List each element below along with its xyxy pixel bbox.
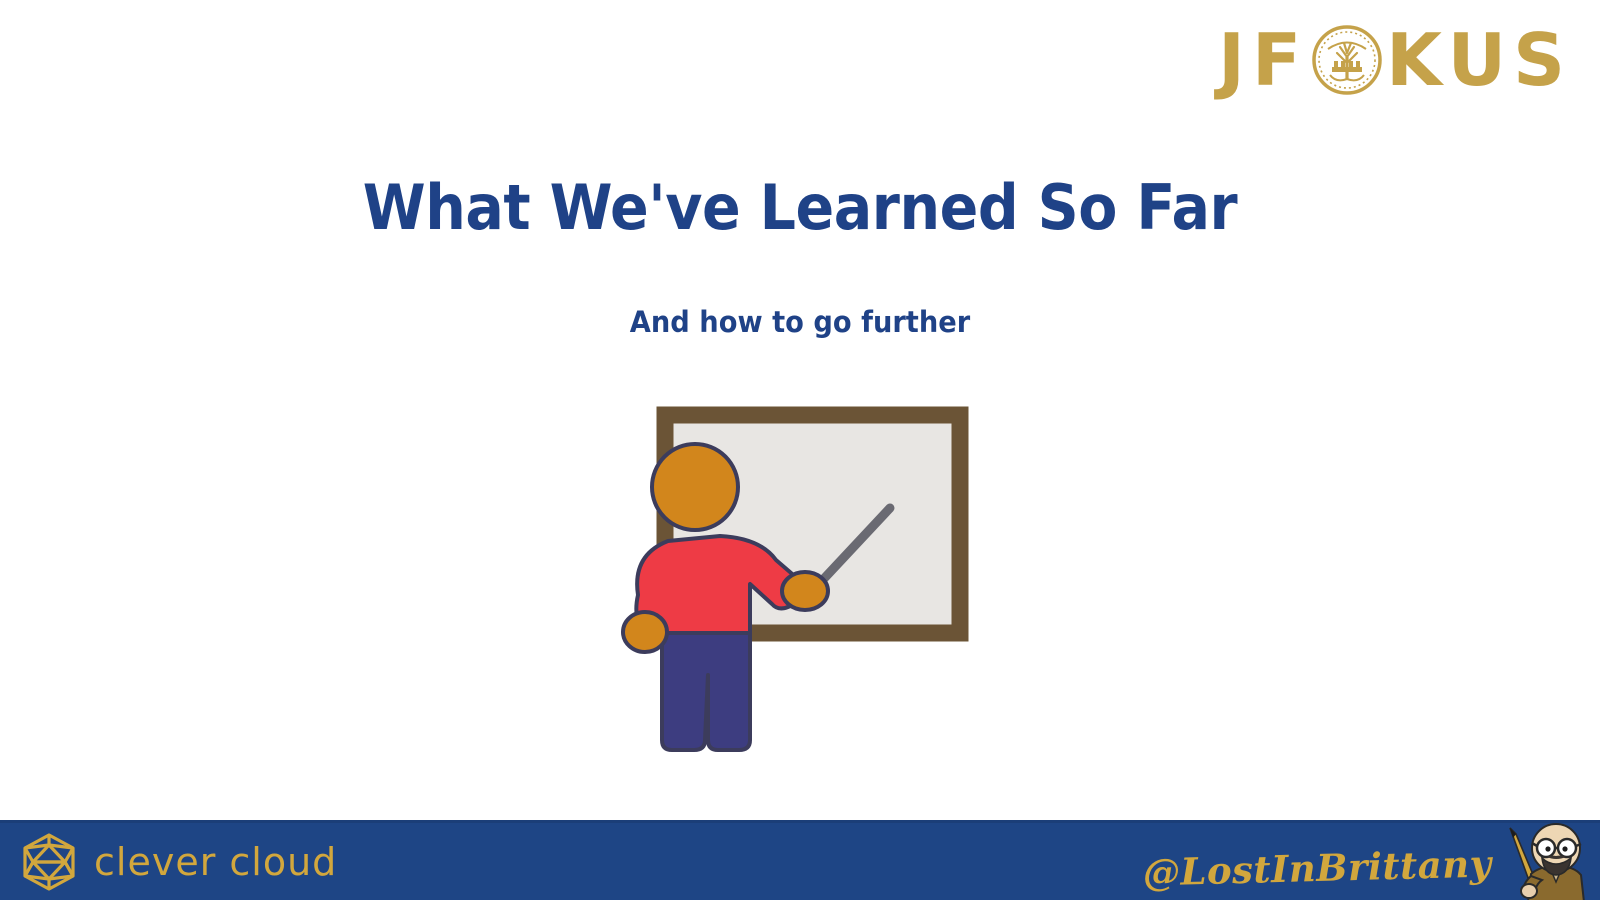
slide-subtitle: And how to go further bbox=[48, 303, 1552, 341]
jfokus-logo-text-right: KUS bbox=[1386, 24, 1572, 96]
jfokus-logo: JF KUS bbox=[1218, 14, 1572, 106]
slide-footer: clever cloud @LostInBrittany bbox=[0, 820, 1600, 900]
slide-root: JF KUS What We've Learned So Far And how… bbox=[0, 0, 1600, 900]
slide-title: What We've Learned So Far bbox=[64, 172, 1536, 244]
speaker-avatar bbox=[1498, 822, 1590, 900]
speaker-credit: @LostInBrittany bbox=[1143, 822, 1590, 900]
sponsor-name: clever cloud bbox=[94, 840, 337, 884]
teacher-whiteboard-illustration bbox=[600, 395, 980, 770]
tree-of-life-icon bbox=[1310, 23, 1384, 97]
icosahedron-icon bbox=[18, 831, 80, 893]
sponsor-logo: clever cloud bbox=[18, 831, 337, 893]
jfokus-logo-text-left: JF bbox=[1218, 24, 1308, 96]
speaker-handle: @LostInBrittany bbox=[1143, 841, 1493, 900]
